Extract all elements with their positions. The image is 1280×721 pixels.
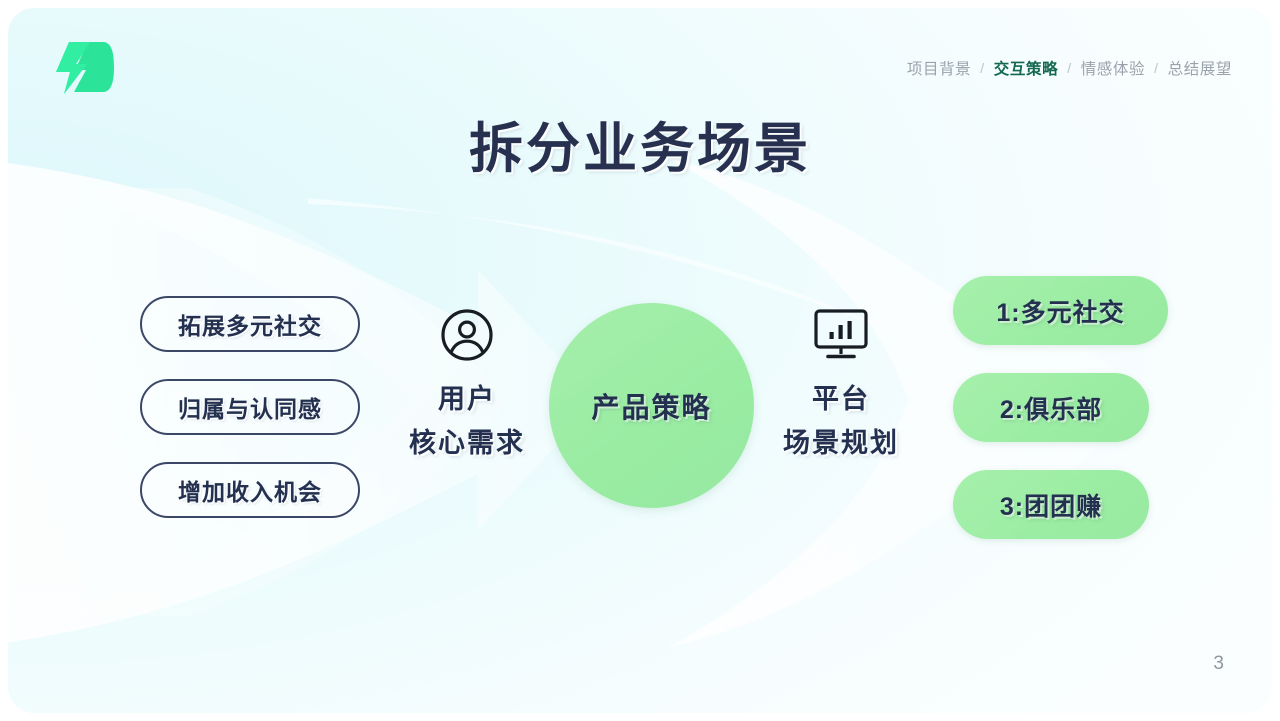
stage-platform: 平台 场景规划 — [760, 304, 922, 465]
left-pill-1[interactable]: 拓展多元社交 — [140, 296, 360, 352]
logo-d-bolt-icon — [46, 36, 114, 98]
right-pill-2[interactable]: 2:俱乐部 — [953, 373, 1149, 442]
stage-user-line1: 用户 — [409, 378, 525, 422]
monitor-chart-icon — [812, 304, 870, 366]
stage-platform-label: 平台 场景规划 — [783, 378, 899, 465]
left-pill-3[interactable]: 增加收入机会 — [140, 462, 360, 518]
breadcrumb-separator: / — [1067, 60, 1072, 76]
right-pill-1[interactable]: 1:多元社交 — [953, 276, 1168, 345]
breadcrumb-item-4[interactable]: 总结展望 — [1168, 57, 1232, 79]
scenario-list: 1:多元社交 2:俱乐部 3:团团赚 — [953, 276, 1168, 539]
right-pill-1-label: 1:多元社交 — [996, 293, 1124, 329]
brand-logo[interactable] — [46, 36, 114, 98]
left-pill-1-label: 拓展多元社交 — [178, 307, 322, 341]
page-title: 拆分业务场景 — [8, 104, 1272, 183]
right-pill-3[interactable]: 3:团团赚 — [953, 470, 1149, 539]
breadcrumb-item-2-active[interactable]: 交互策略 — [994, 57, 1058, 79]
user-needs-list: 拓展多元社交 归属与认同感 增加收入机会 — [140, 296, 360, 518]
page-number: 3 — [1213, 653, 1224, 675]
breadcrumb-item-3[interactable]: 情感体验 — [1081, 57, 1145, 79]
stage-platform-line1: 平台 — [783, 378, 899, 422]
center-circle-label: 产品策略 — [591, 386, 711, 426]
stage-user-label: 用户 核心需求 — [409, 378, 525, 465]
left-pill-3-label: 增加收入机会 — [178, 473, 322, 507]
slide-canvas: 项目背景 / 交互策略 / 情感体验 / 总结展望 拆分业务场景 拓展多元社交 … — [8, 8, 1272, 713]
breadcrumb: 项目背景 / 交互策略 / 情感体验 / 总结展望 — [907, 57, 1232, 79]
right-pill-2-label: 2:俱乐部 — [1000, 390, 1102, 426]
stage-platform-line2: 场景规划 — [783, 422, 899, 466]
stage-user-line2: 核心需求 — [409, 422, 525, 466]
left-pill-2-label: 归属与认同感 — [178, 390, 322, 424]
user-icon — [439, 304, 495, 366]
left-pill-2[interactable]: 归属与认同感 — [140, 379, 360, 435]
breadcrumb-separator: / — [980, 60, 985, 76]
center-circle[interactable]: 产品策略 — [549, 303, 754, 508]
breadcrumb-separator: / — [1154, 60, 1159, 76]
right-pill-3-label: 3:团团赚 — [1000, 487, 1102, 523]
stage-user: 用户 核心需求 — [386, 304, 548, 465]
breadcrumb-item-1[interactable]: 项目背景 — [907, 57, 971, 79]
